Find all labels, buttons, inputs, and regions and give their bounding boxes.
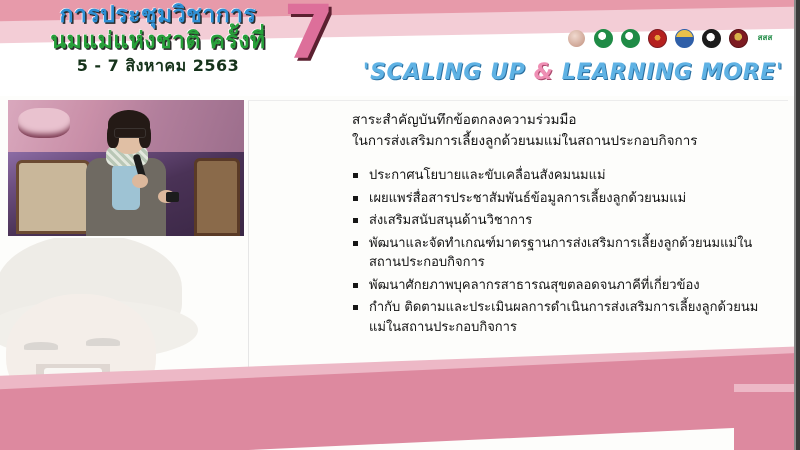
conference-edition-number: 7 <box>283 0 335 70</box>
ministry-of-public-health-icon <box>594 29 613 48</box>
red-gold-emblem-icon <box>648 29 667 48</box>
armchair-left <box>16 160 90 234</box>
logo-black-circle-emblem <box>700 26 722 50</box>
footer-wave-right-main <box>734 392 794 450</box>
speaker-webcam-video[interactable] <box>8 100 244 236</box>
list-item: ประกาศนโยบายและขับเคลื่อนสังคมนมแม่ <box>352 166 762 186</box>
list-item: เผยแพร่สื่อสารประชาสัมพันธ์ข้อมูลการเลี้… <box>352 189 762 209</box>
presentation-remote-icon <box>166 192 179 202</box>
conference-date: 5 - 7 สิงหาคม 2563 <box>18 55 298 77</box>
child-eye-left <box>24 342 58 350</box>
conference-tagline: 'SCALING UP & LEARNING MORE' <box>358 60 788 85</box>
department-of-health-icon <box>621 29 640 48</box>
list-item: พัฒนาศักยภาพบุคลากรสาธารณสุขตลอดจนภาคีที… <box>352 276 762 296</box>
list-item: พัฒนาและจัดทำเกณฑ์มาตรฐานการส่งเสริมการเ… <box>352 234 762 273</box>
tagline-part2: LEARNING MORE' <box>554 60 784 85</box>
speaker-glasses-icon <box>114 128 146 138</box>
logo-red-gold-emblem <box>646 26 668 50</box>
list-item: ส่งเสริมสนับสนุนด้านวิชาการ <box>352 211 762 231</box>
presentation-slide: การประชุมวิชาการ นมแม่แห่งชาติ ครั้งที่ … <box>0 0 800 450</box>
child-shoulder <box>110 378 250 410</box>
royal-patronage-seal-icon <box>568 30 585 47</box>
slide-heading: สาระสำคัญบันทึกข้อตกลงความร่วมมือ ในการส… <box>352 110 762 152</box>
speaker-hand-holding-mic <box>132 174 148 188</box>
logo-dark-red-seal <box>727 26 749 50</box>
logo-royal-patronage-seal <box>565 26 587 50</box>
child-eye-right <box>86 338 120 346</box>
smiling-child-watermark <box>0 238 250 410</box>
sponsor-logos-row: สสส <box>565 26 776 50</box>
armchair-right <box>194 158 240 236</box>
dark-red-seal-icon <box>729 29 748 48</box>
logo-ministry-of-public-health <box>592 26 614 50</box>
slide-heading-line1: สาระสำคัญบันทึกข้อตกลงความร่วมมือ <box>352 110 762 131</box>
slide-bullet-list: ประกาศนโยบายและขับเคลื่อนสังคมนมแม่ เผยแ… <box>352 166 762 337</box>
logo-department-of-health <box>619 26 641 50</box>
footer-wave-right-light <box>734 384 794 406</box>
thaihealth-sss-icon: สสส <box>758 34 773 42</box>
slide-content: สาระสำคัญบันทึกข้อตกลงความร่วมมือ ในการส… <box>352 110 762 340</box>
thai-royal-emblem-icon <box>675 29 694 48</box>
tagline-part1: 'SCALING UP <box>363 60 534 85</box>
logo-thaihealth-sss: สสส <box>754 26 776 50</box>
content-divider <box>248 100 249 400</box>
conference-title-line1: การประชุมวิชาการ <box>18 2 298 28</box>
logo-thai-royal-emblem <box>673 26 695 50</box>
window-edge-outer <box>796 0 800 450</box>
tagline-ampersand: & <box>534 60 554 85</box>
list-item: กำกับ ติดตามและประเมินผลการดำเนินการส่งเ… <box>352 298 762 337</box>
black-circle-emblem-icon <box>702 29 721 48</box>
slide-heading-line2: ในการส่งเสริมการเลี้ยงลูกด้วยนมแม่ในสถาน… <box>352 131 762 152</box>
conference-title-line2: นมแม่แห่งชาติ ครั้งที่ <box>18 28 298 54</box>
content-panel-top-edge <box>248 100 788 101</box>
conference-title-block: การประชุมวิชาการ นมแม่แห่งชาติ ครั้งที่ … <box>18 2 298 77</box>
child-teeth <box>44 368 102 381</box>
